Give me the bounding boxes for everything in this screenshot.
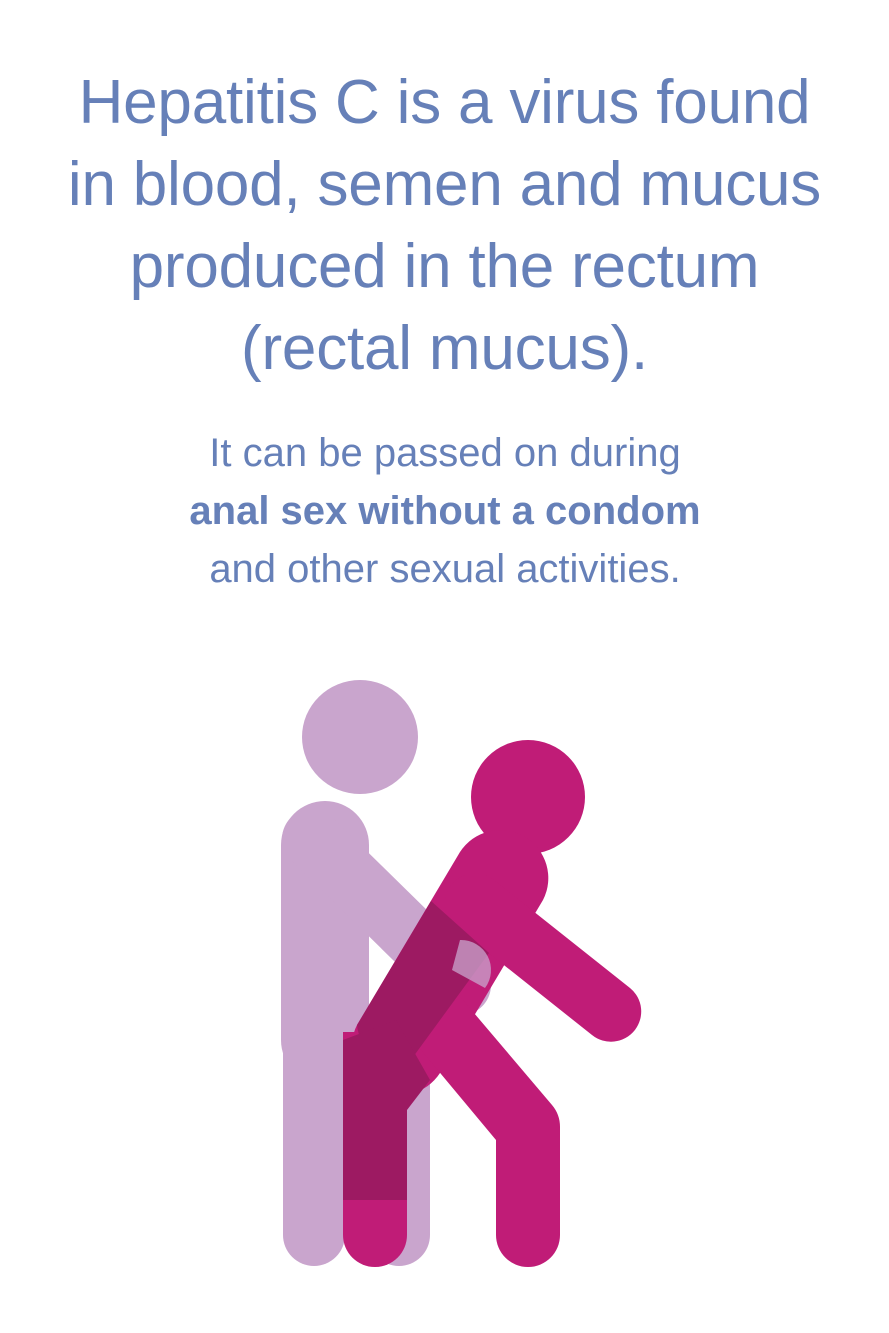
standing-figure-head — [302, 680, 418, 794]
subheading-line-3: and other sexual activities. — [95, 540, 795, 598]
subheading-line-1: It can be passed on during — [95, 424, 795, 482]
subheading-block: It can be passed on during anal sex with… — [95, 424, 795, 598]
illustration-two-figures — [0, 640, 889, 1300]
subheading-line-2-bold: anal sex without a condom — [95, 482, 795, 540]
page-title: Hepatitis C is a virus found in blood, s… — [30, 62, 859, 390]
standing-figure-leg-left — [283, 1010, 345, 1266]
two-figures-pictogram-svg — [0, 640, 889, 1300]
poster-canvas: Hepatitis C is a virus found in blood, s… — [0, 0, 889, 1333]
